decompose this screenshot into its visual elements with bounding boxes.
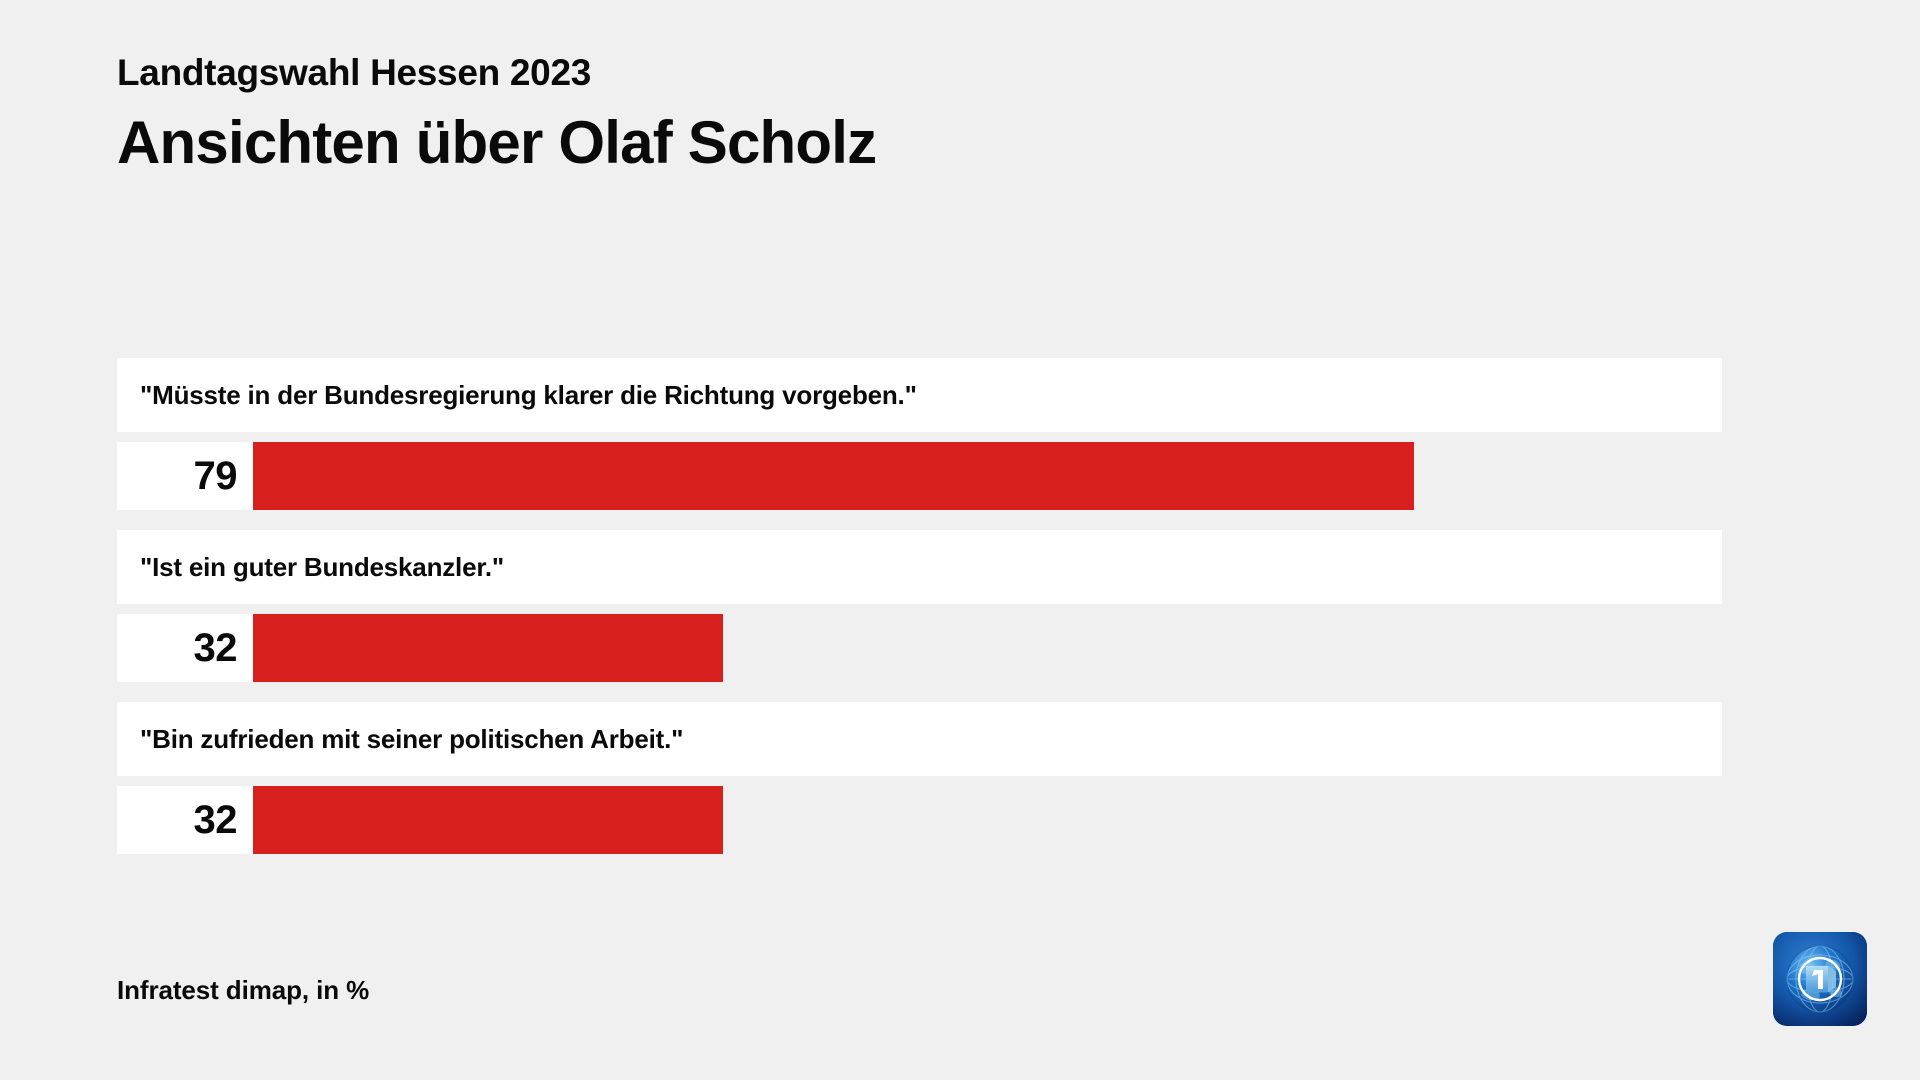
bar-group: "Bin zufrieden mit seiner politischen Ar… <box>117 702 1722 854</box>
bar-value: 79 <box>194 456 238 496</box>
bar-value: 32 <box>194 800 238 840</box>
kicker-text: Landtagswahl Hessen 2023 <box>117 52 1717 95</box>
bar-label: "Bin zufrieden mit seiner politischen Ar… <box>140 724 683 755</box>
bar-label-box: "Ist ein guter Bundeskanzler." <box>117 530 1722 604</box>
bar-fill <box>253 614 723 682</box>
bar-row: 32 <box>117 786 1722 854</box>
bar-value-box: 32 <box>117 614 253 682</box>
bar-chart: "Müsste in der Bundesregierung klarer di… <box>117 358 1722 854</box>
ard-das-erste-logo <box>1773 932 1867 1026</box>
bar-value: 32 <box>194 628 238 668</box>
bar-group: "Müsste in der Bundesregierung klarer di… <box>117 358 1722 510</box>
page-title: Ansichten über Olaf Scholz <box>117 109 1717 176</box>
bar-track <box>253 614 1722 682</box>
bar-track <box>253 786 1722 854</box>
bar-label: "Ist ein guter Bundeskanzler." <box>140 552 504 583</box>
bar-value-box: 79 <box>117 442 253 510</box>
source-note: Infratest dimap, in % <box>117 975 369 1006</box>
bar-label: "Müsste in der Bundesregierung klarer di… <box>140 380 917 411</box>
bar-group: "Ist ein guter Bundeskanzler." 32 <box>117 530 1722 682</box>
bar-row: 79 <box>117 442 1722 510</box>
header: Landtagswahl Hessen 2023 Ansichten über … <box>117 52 1717 176</box>
bar-fill <box>253 786 723 854</box>
infographic-canvas: Landtagswahl Hessen 2023 Ansichten über … <box>0 0 1920 1080</box>
bar-row: 32 <box>117 614 1722 682</box>
bar-label-box: "Bin zufrieden mit seiner politischen Ar… <box>117 702 1722 776</box>
bar-label-box: "Müsste in der Bundesregierung klarer di… <box>117 358 1722 432</box>
bar-track <box>253 442 1722 510</box>
bar-value-box: 32 <box>117 786 253 854</box>
bar-fill <box>253 442 1414 510</box>
